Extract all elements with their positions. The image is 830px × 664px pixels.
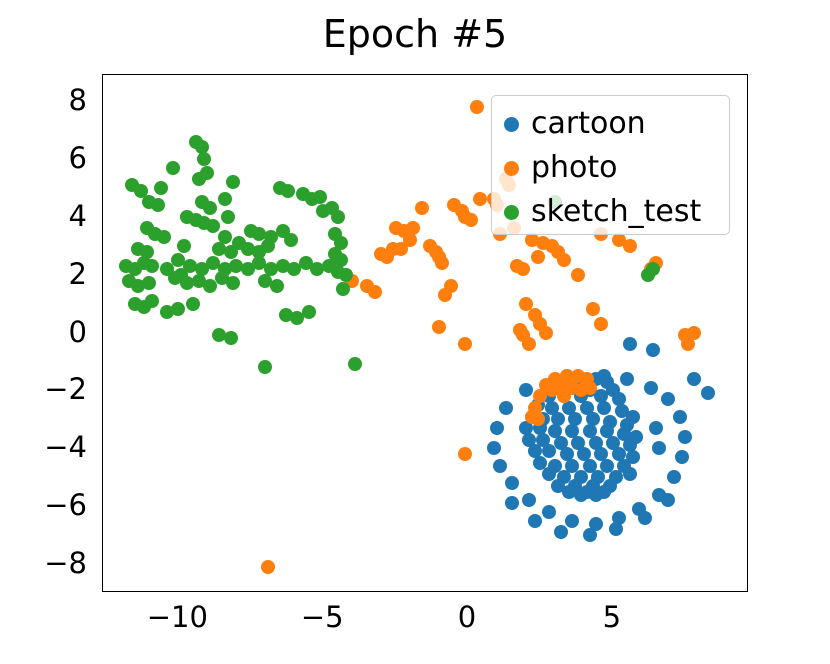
- x-axis-tick: [468, 591, 469, 592]
- scatter-point: [678, 430, 692, 444]
- chart-title: Epoch #5: [0, 14, 830, 56]
- scatter-point: [490, 421, 504, 435]
- scatter-point: [473, 192, 487, 206]
- y-axis-tick: [102, 506, 103, 507]
- scatter-point: [681, 337, 695, 351]
- scatter-point: [157, 230, 171, 244]
- x-axis-tick-labels: −10−505: [102, 600, 748, 640]
- scatter-point: [499, 401, 513, 415]
- scatter-point: [516, 262, 530, 276]
- y-axis-tick: [102, 390, 103, 391]
- scatter-point: [166, 161, 180, 175]
- scatter-point: [557, 253, 571, 267]
- scatter-point: [531, 250, 545, 264]
- scatter-point: [542, 505, 556, 519]
- scatter-point: [594, 317, 608, 331]
- scatter-point: [574, 488, 588, 502]
- scatter-point: [522, 337, 536, 351]
- legend-item-cartoon[interactable]: cartoon: [504, 102, 719, 146]
- scatter-point: [336, 282, 350, 296]
- scatter-point: [539, 326, 553, 340]
- scatter-point: [557, 389, 571, 403]
- scatter-point: [565, 514, 579, 528]
- scatter-point: [583, 381, 597, 395]
- scatter-point: [539, 378, 553, 392]
- scatter-point: [142, 276, 156, 290]
- y-axis-tick-label: −8: [44, 546, 87, 580]
- scatter-point: [145, 259, 159, 273]
- scatter-point: [339, 268, 353, 282]
- x-axis-tick: [178, 591, 179, 592]
- scatter-point: [464, 213, 478, 227]
- y-axis-tick-label: 8: [69, 83, 87, 117]
- scatter-point: [652, 441, 666, 455]
- scatter-point: [519, 383, 533, 397]
- scatter-point: [646, 262, 660, 276]
- scatter-point: [218, 192, 232, 206]
- scatter-point: [528, 514, 542, 528]
- scatter-point: [589, 488, 603, 502]
- scatter-point: [151, 198, 165, 212]
- scatter-point: [438, 288, 452, 302]
- y-axis-tick: [102, 448, 103, 449]
- scatter-point: [638, 511, 652, 525]
- x-axis-tick-label: −10: [147, 600, 208, 634]
- scatter-point: [261, 560, 275, 574]
- scatter-point: [313, 190, 327, 204]
- x-axis-tick-label: 5: [603, 600, 621, 634]
- legend-item-photo[interactable]: photo: [504, 146, 719, 190]
- y-axis-tick: [102, 275, 103, 276]
- scatter-point: [284, 233, 298, 247]
- scatter-point: [432, 320, 446, 334]
- scatter-point: [531, 412, 545, 426]
- legend-swatch-sketch-test: [504, 205, 519, 220]
- scatter-point: [493, 459, 507, 473]
- scatter-point: [661, 493, 675, 507]
- scatter-point: [505, 496, 519, 510]
- scatter-point: [542, 444, 556, 458]
- y-axis-tick-labels: 86420−2−4−6−8: [0, 74, 95, 592]
- scatter-point: [554, 525, 568, 539]
- scatter-point: [701, 386, 715, 400]
- scatter-point: [261, 239, 275, 253]
- scatter-point: [348, 357, 362, 371]
- scatter-point: [522, 493, 536, 507]
- scatter-point: [597, 401, 611, 415]
- y-axis-tick-label: 2: [69, 257, 87, 291]
- y-axis-tick: [102, 101, 103, 102]
- x-axis-tick: [613, 591, 614, 592]
- scatter-point: [435, 256, 449, 270]
- scatter-point: [203, 201, 217, 215]
- legend-label-photo: photo: [531, 153, 618, 183]
- scatter-point: [226, 175, 240, 189]
- scatter-point: [609, 522, 623, 536]
- figure-canvas: Epoch #5 86420−2−4−6−8 −10−505 cartoon p…: [0, 0, 830, 664]
- y-axis-tick-label: 4: [69, 199, 87, 233]
- scatter-point: [197, 152, 211, 166]
- y-axis-tick: [102, 217, 103, 218]
- scatter-point: [145, 294, 159, 308]
- scatter-point: [270, 279, 284, 293]
- scatter-point: [458, 447, 472, 461]
- scatter-point: [221, 210, 235, 224]
- scatter-point: [368, 285, 382, 299]
- scatter-point: [226, 276, 240, 290]
- scatter-point: [154, 181, 168, 195]
- scatter-point: [174, 268, 188, 282]
- scatter-point: [644, 381, 658, 395]
- scatter-point: [620, 372, 634, 386]
- legend-item-sketch-test[interactable]: sketch_test: [504, 190, 719, 234]
- y-axis-tick-label: −2: [44, 372, 87, 406]
- legend-label-cartoon: cartoon: [531, 109, 646, 139]
- scatter-point: [646, 343, 660, 357]
- scatter-point: [586, 302, 600, 316]
- scatter-point: [186, 297, 200, 311]
- scatter-point: [667, 470, 681, 484]
- scatter-point: [171, 302, 185, 316]
- x-axis-tick-label: −5: [301, 600, 344, 634]
- scatter-point: [505, 476, 519, 490]
- scatter-point: [281, 184, 295, 198]
- scatter-point: [675, 450, 689, 464]
- y-axis-tick-label: 0: [69, 315, 87, 349]
- scatter-point: [673, 410, 687, 424]
- y-axis-tick-label: −4: [44, 430, 87, 464]
- scatter-point: [394, 242, 408, 256]
- scatter-point: [258, 360, 272, 374]
- scatter-point: [583, 528, 597, 542]
- scatter-point: [487, 441, 501, 455]
- scatter-point: [623, 337, 637, 351]
- scatter-point: [192, 172, 206, 186]
- y-axis-tick-label: −6: [44, 488, 87, 522]
- scatter-point: [470, 100, 484, 114]
- scatter-point: [331, 210, 345, 224]
- scatter-point: [302, 305, 316, 319]
- x-axis-tick-label: 0: [458, 600, 476, 634]
- legend-swatch-cartoon: [504, 117, 519, 132]
- y-axis-tick-label: 6: [69, 141, 87, 175]
- scatter-point: [415, 201, 429, 215]
- legend-label-sketch-test: sketch_test: [531, 197, 701, 227]
- scatter-point: [571, 268, 585, 282]
- scatter-point: [649, 421, 663, 435]
- y-axis-tick: [102, 564, 103, 565]
- scatter-point: [206, 219, 220, 233]
- scatter-point: [177, 239, 191, 253]
- scatter-point: [687, 372, 701, 386]
- y-axis-tick: [102, 333, 103, 334]
- y-axis-tick: [102, 159, 103, 160]
- x-axis-tick: [323, 591, 324, 592]
- legend-swatch-photo: [504, 161, 519, 176]
- legend-box[interactable]: cartoon photo sketch_test: [491, 95, 730, 235]
- scatter-point: [661, 392, 675, 406]
- scatter-point: [380, 250, 394, 264]
- scatter-point: [224, 331, 238, 345]
- scatter-point: [623, 467, 637, 481]
- scatter-point: [458, 337, 472, 351]
